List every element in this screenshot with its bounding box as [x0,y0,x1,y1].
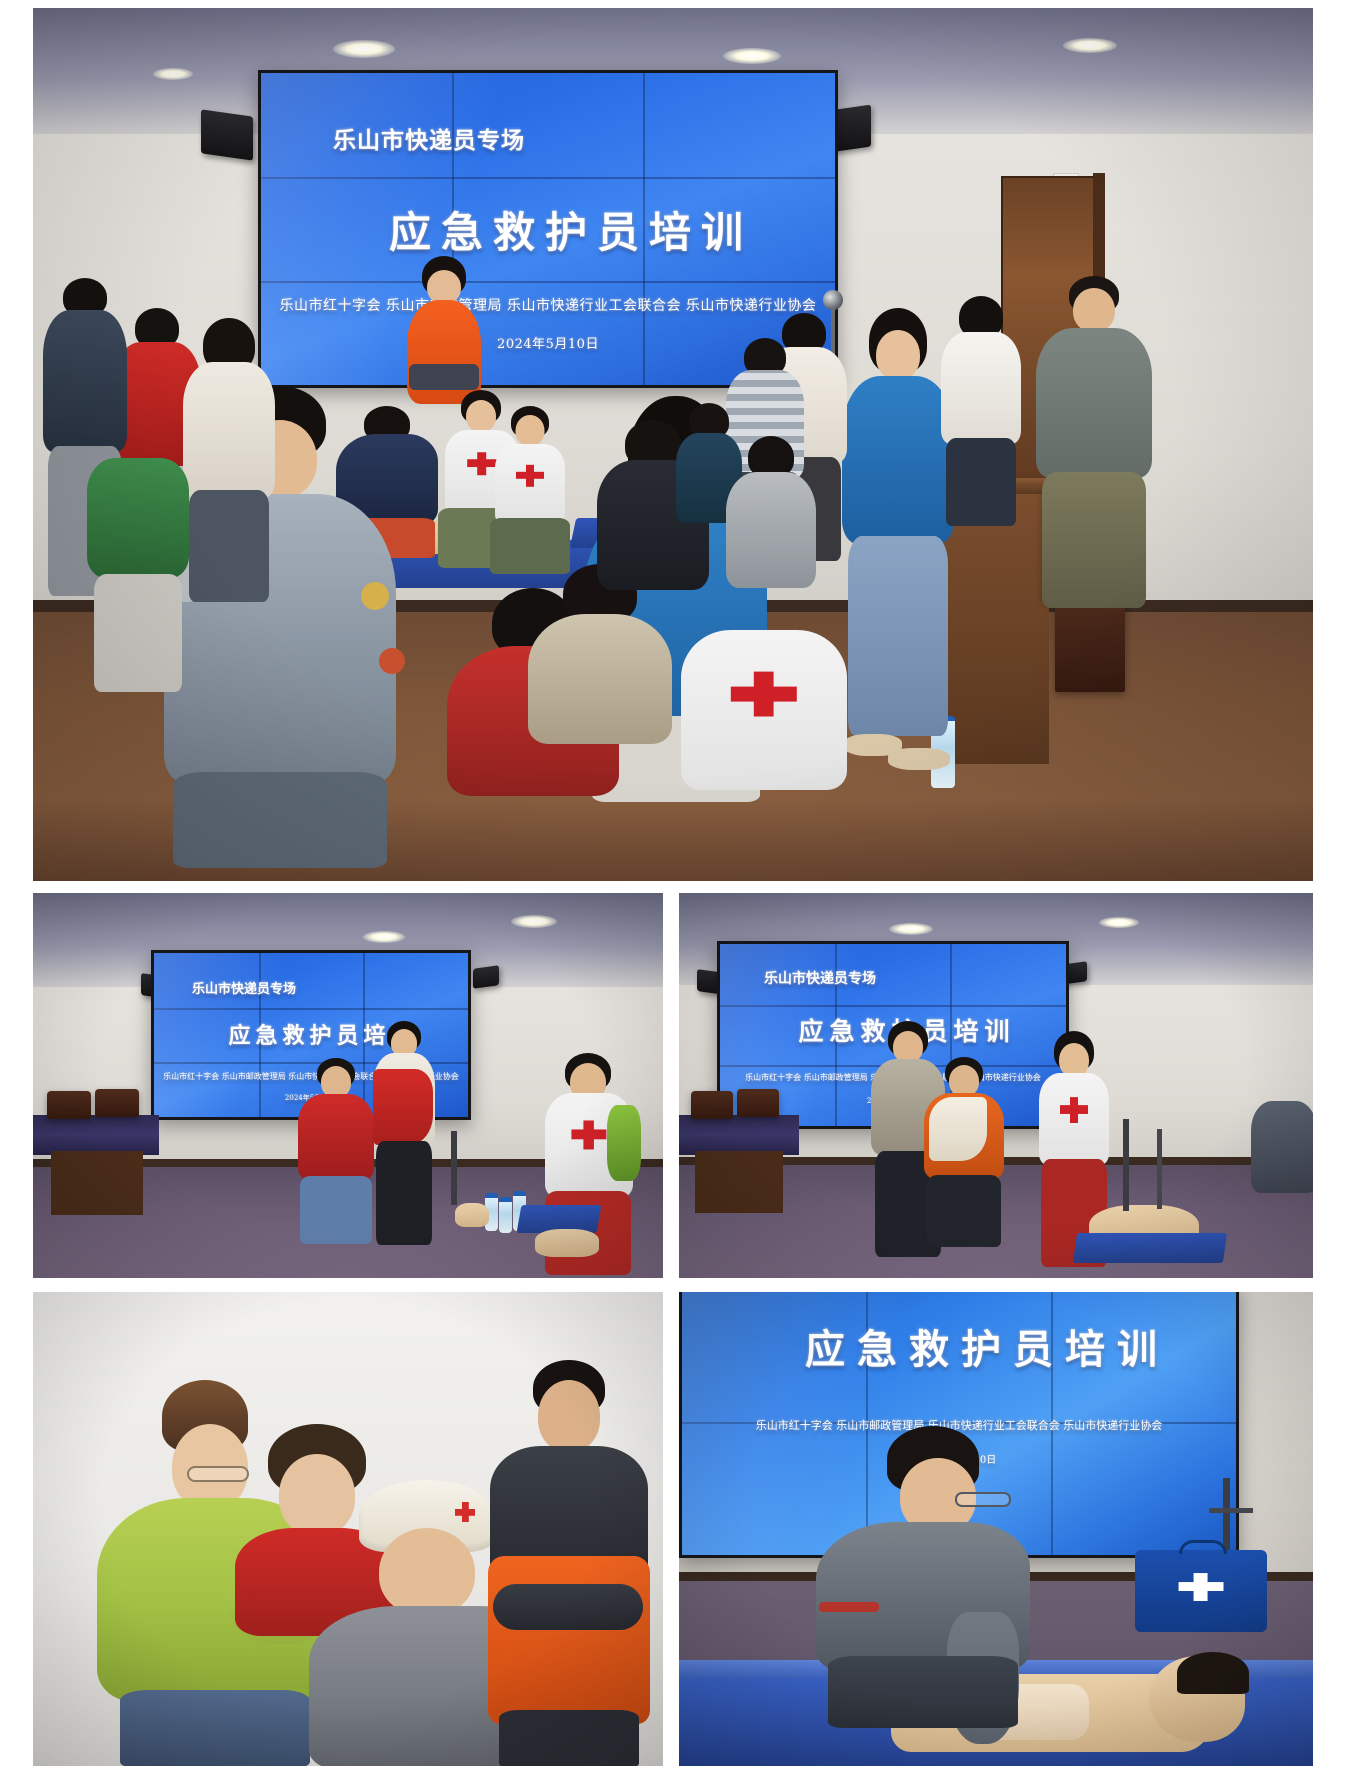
head [538,1380,600,1452]
green-sleeve [607,1105,641,1181]
ceiling-downlight [1063,38,1117,53]
shirt-red-trim [819,1602,879,1612]
sleeve-stripe [409,364,479,390]
conference-chair [95,1089,139,1117]
torso [1036,328,1152,478]
legs [499,1710,639,1766]
ceiling-downlight [363,931,405,943]
torso [528,614,672,744]
red-cross-vest [681,630,847,790]
panel-bandaging-demo: 乐山市快递员专场 应急救护员培训 乐山市红十字会 乐山市邮政管理局 乐山市快递行… [33,893,663,1278]
torso [1251,1101,1313,1193]
ceiling-downlight [889,923,933,935]
scene-mid-left: 乐山市快递员专场 应急救护员培训 乐山市红十字会 乐山市邮政管理局 乐山市快递行… [33,893,663,1278]
panel-arm-sling-practice: 乐山市快递员专场 应急救护员培训 乐山市红十字会 乐山市邮政管理局 乐山市快递行… [679,893,1313,1278]
legs [1042,472,1146,608]
conference-chair [47,1091,91,1119]
head [427,270,461,304]
scene-mid-right: 乐山市快递员专场 应急救护员培训 乐山市红十字会 乐山市邮政管理局 乐山市快递行… [679,893,1313,1278]
jacket-patch [361,582,389,610]
ptz-camera [823,290,843,310]
instructor-demonstrating-sling [369,1021,439,1251]
kneeling-legs [828,1656,1018,1728]
legs [376,1141,432,1245]
bandage-red-cross-mark [455,1502,475,1522]
trainee-red-cross-kneeling-front [681,630,851,810]
cpr-training-mat [1073,1233,1227,1263]
slide-headline: 应急救护员培训 [261,199,835,260]
trainee-performing-cpr [799,1426,1047,1726]
conference-desk [33,1115,159,1155]
head [1059,1043,1089,1077]
legs [300,1176,372,1244]
red-cross-first-aid-bag [1135,1550,1267,1632]
scene-bottom-left [33,1292,663,1766]
torso [183,362,275,498]
participant-partial-right-edge [1249,1101,1313,1278]
video-wall-seam [720,1005,1066,1007]
slide-kicker: 乐山市快递员专场 [764,968,876,988]
head [379,1528,475,1616]
ceiling-downlight [153,68,193,80]
trainee-white-top-left [181,318,277,608]
legs [94,574,182,692]
equipment-cart-crossbar [1209,1508,1253,1513]
video-wall-seam [261,177,835,179]
panel-main-training-room: 乐山市快递员专场 应急救护员培训 乐山市红十字会 乐山市邮政管理局 乐山市快递行… [33,8,1313,881]
torso [726,472,816,588]
red-cross-vest [495,444,565,524]
ceiling-downlight [1099,917,1139,928]
torso [43,310,127,452]
legs [189,490,269,602]
arm-sling-bandage [929,1097,987,1161]
torso [941,332,1021,444]
cpr-manikin-hair [1177,1652,1249,1694]
red-cross-vest [1039,1073,1109,1165]
legs [946,438,1016,526]
slide-kicker: 乐山市快递员专场 [333,121,525,155]
conference-chair [737,1089,779,1117]
seated-participant-with-sling [917,1057,1011,1257]
conference-chair [691,1091,733,1119]
scene-bottom-right: 应急救护员培训 乐山市红十字会 乐山市邮政管理局 乐山市快递行业工会联合会 乐山… [679,1292,1313,1766]
jacket-patch [379,648,405,674]
crossed-arms [493,1584,643,1630]
equipment-cart [1157,1129,1162,1209]
video-wall-seam [154,1008,468,1010]
water-bottle [499,1197,512,1233]
ceiling-downlight [723,48,781,64]
ceiling-speaker-left [201,109,253,160]
participant-grey-hoodie-center [723,436,819,596]
bag-handle [1179,1540,1227,1554]
legs [173,772,387,868]
trainee-kneeling-red-vest [485,406,575,576]
torso [298,1094,374,1180]
backpack [87,458,189,578]
red-sling-cloth [373,1069,433,1145]
legs-denim [120,1690,310,1766]
desk-leg [51,1151,143,1215]
legs [927,1175,1001,1247]
ceiling-downlight [333,40,395,58]
observer-orange-polo [485,1360,653,1766]
ceiling-speaker-right [473,965,499,989]
cpr-manikin [535,1229,599,1257]
eyeglasses [955,1492,1011,1507]
cpr-manikin [455,1203,489,1227]
video-wall-seam [261,281,835,283]
ceiling-downlight [511,915,557,928]
conference-chair [1055,596,1125,692]
slide-kicker: 乐山市快递员专场 [192,978,296,997]
slide-organizers: 乐山市红十字会 乐山市邮政管理局 乐山市快递行业工会联合会 乐山市快递行业协会 [261,295,835,315]
equipment-cart [1123,1119,1129,1211]
legs [848,536,948,736]
head [876,330,920,380]
trainee-green-backpack [83,448,193,698]
scene-main: 乐山市快递员专场 应急救护员培训 乐山市红十字会 乐山市邮政管理局 乐山市快递行… [33,8,1313,881]
equipment-cart [451,1131,457,1205]
torso-orange-lower [488,1556,650,1724]
panel-cpr-compression-practice: 应急救护员培训 乐山市红十字会 乐山市邮政管理局 乐山市快递行业工会联合会 乐山… [679,1292,1313,1766]
participant-grey-shirt-right [1033,276,1155,606]
seated-participant-red-polo [291,1058,381,1258]
conference-desk [679,1115,799,1155]
shoe [888,748,950,770]
panel-head-bandage-practice [33,1292,663,1766]
photo-collage: 乐山市快递员专场 应急救护员培训 乐山市红十字会 乐山市邮政管理局 乐山市快递行… [0,0,1345,1774]
head [516,415,545,446]
slide-headline: 应急救护员培训 [682,1317,1236,1375]
head [1073,288,1115,332]
desk-leg [695,1151,783,1213]
participant-white-blouse [938,296,1024,526]
